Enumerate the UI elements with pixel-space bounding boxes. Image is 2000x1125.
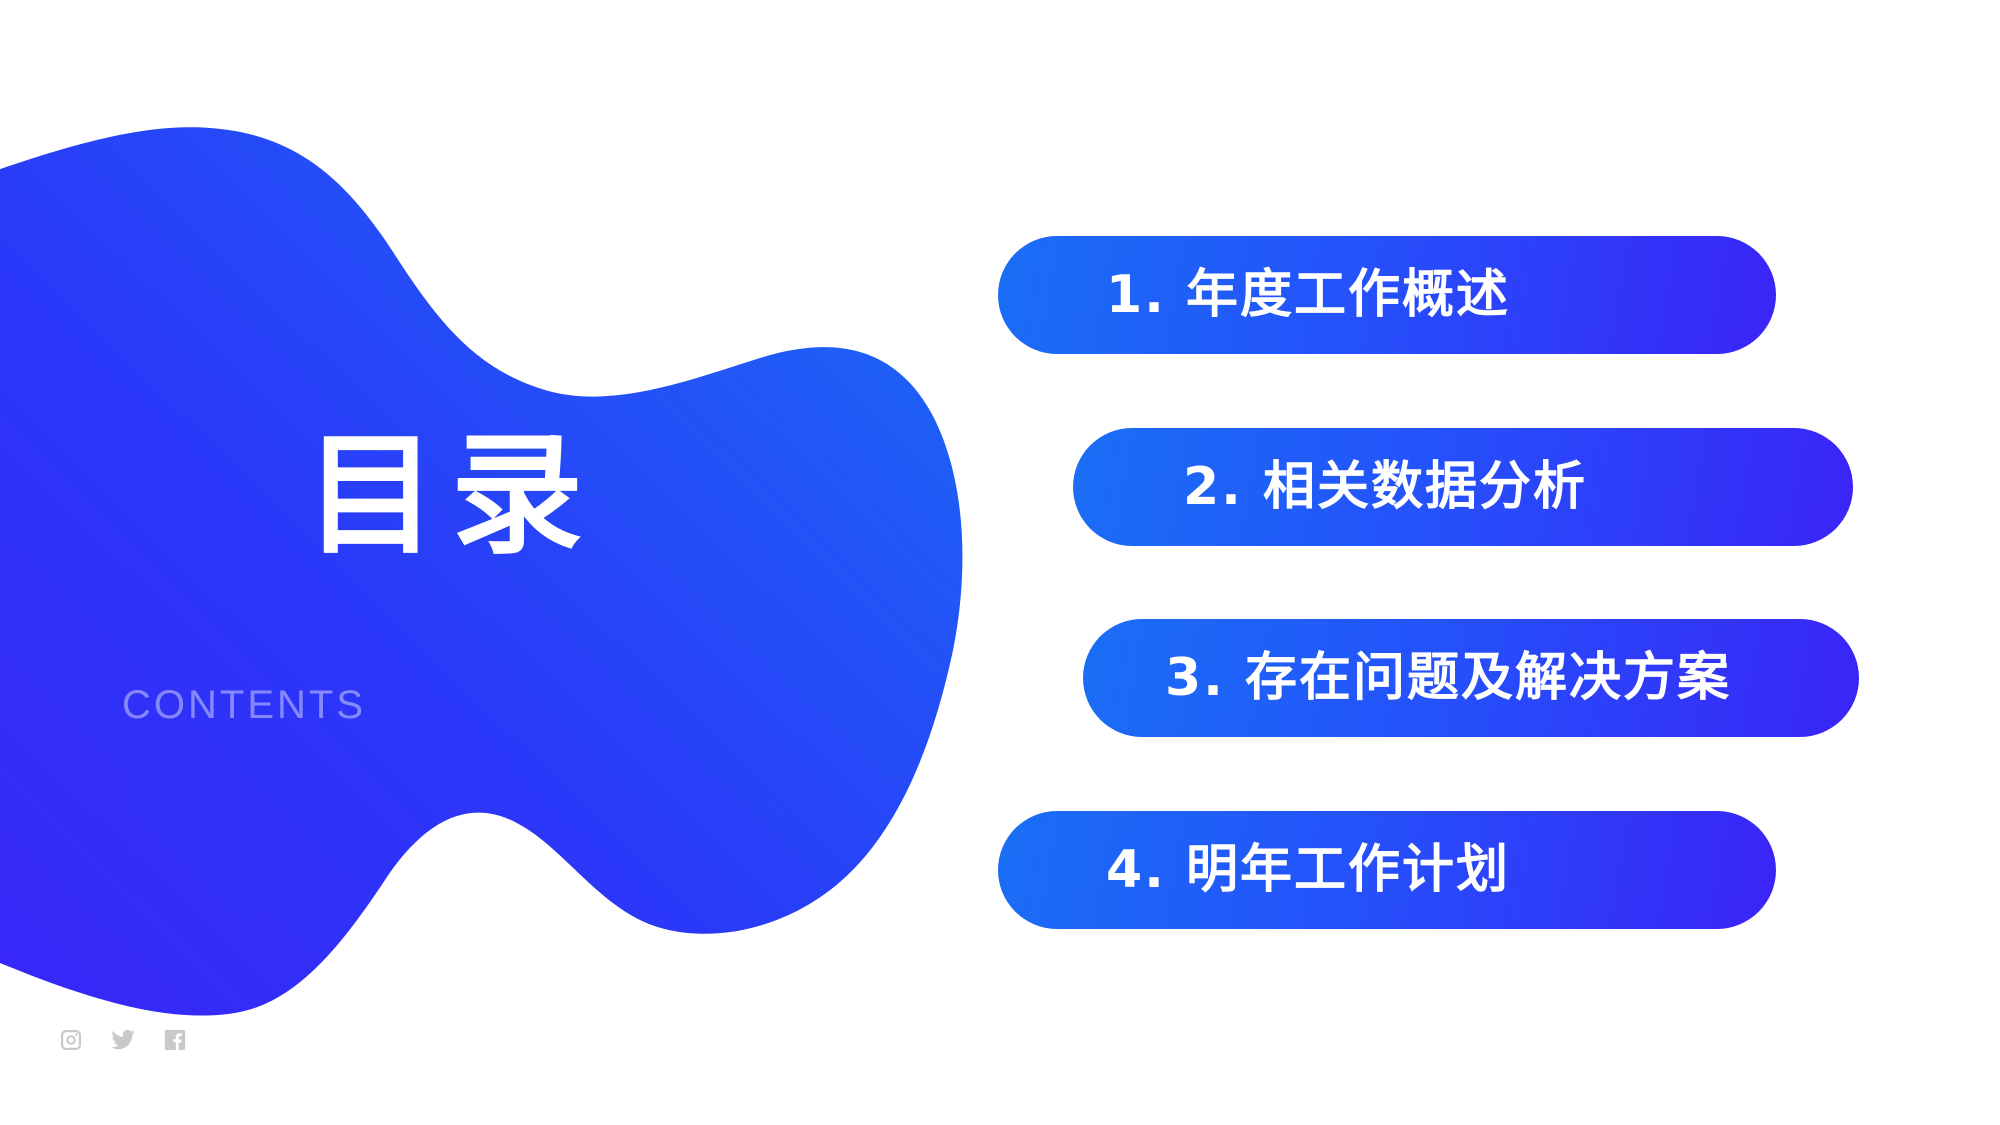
contents-item-2[interactable]: 2. 相关数据分析 xyxy=(1073,428,1853,546)
contents-item-1-label: 1. 年度工作概述 xyxy=(1106,269,1510,321)
contents-item-3-label: 3. 存在问题及解决方案 xyxy=(1165,652,1731,704)
instagram-glyph xyxy=(58,1027,84,1053)
page-subtitle: CONTENTS xyxy=(122,685,366,725)
facebook-icon[interactable] xyxy=(162,1027,188,1053)
twitter-icon[interactable] xyxy=(110,1027,136,1053)
contents-item-2-label: 2. 相关数据分析 xyxy=(1183,461,1587,513)
twitter-glyph xyxy=(110,1027,136,1053)
contents-item-1[interactable]: 1. 年度工作概述 xyxy=(998,236,1776,354)
contents-item-4-label: 4. 明年工作计划 xyxy=(1106,844,1510,896)
contents-item-3[interactable]: 3. 存在问题及解决方案 xyxy=(1083,619,1859,737)
contents-list: 1. 年度工作概述 2. 相关数据分析 3. 存在问题及解决方案 4. 明年工作… xyxy=(0,0,2000,1125)
contents-item-4[interactable]: 4. 明年工作计划 xyxy=(998,811,1776,929)
social-links xyxy=(58,1027,188,1053)
page-title: 目录 xyxy=(305,430,597,562)
instagram-icon[interactable] xyxy=(58,1027,84,1053)
slide-canvas: 目录 CONTENTS 1. 年度工作概述 2. 相关数据分 xyxy=(0,0,2000,1125)
facebook-glyph xyxy=(162,1027,188,1053)
